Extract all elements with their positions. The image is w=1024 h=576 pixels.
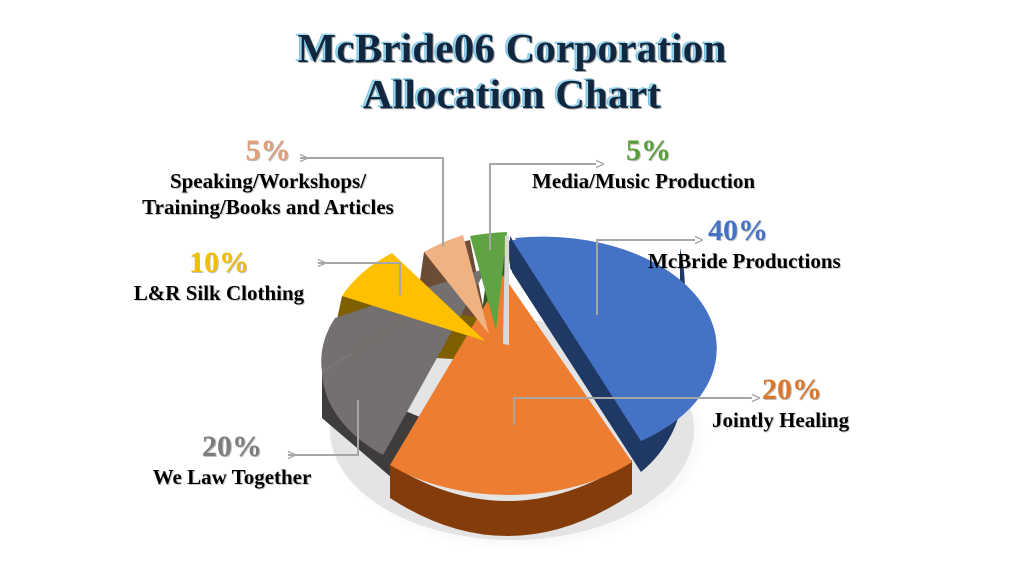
callout-silk: 10% L&R Silk Clothing bbox=[108, 248, 330, 306]
callout-mcbride-percent: 40% bbox=[708, 216, 948, 246]
callout-jointly: 20% Jointly Healing bbox=[712, 375, 952, 433]
callout-silk-percent: 10% bbox=[108, 248, 330, 278]
callout-media-label: Media/Music Production bbox=[532, 168, 832, 194]
callout-speaking-label-line1: Speaking/Workshops/ bbox=[170, 169, 366, 193]
callout-welaw-label: We Law Together bbox=[128, 464, 336, 490]
callout-media: 5% Media/Music Production bbox=[532, 136, 832, 194]
callout-speaking-percent: 5% bbox=[112, 136, 424, 166]
callout-speaking-label: Speaking/Workshops/ Training/Books and A… bbox=[112, 168, 424, 221]
callout-speaking: 5% Speaking/Workshops/ Training/Books an… bbox=[112, 136, 424, 221]
callout-media-percent: 5% bbox=[626, 136, 832, 166]
callout-mcbride: 40% McBride Productions bbox=[648, 216, 948, 274]
slide-canvas: McBride06 Corporation Allocation Chart bbox=[0, 0, 1024, 576]
callout-mcbride-label: McBride Productions bbox=[648, 248, 948, 274]
callout-speaking-label-line2: Training/Books and Articles bbox=[112, 194, 424, 220]
callout-jointly-percent: 20% bbox=[762, 375, 952, 405]
callout-jointly-label: Jointly Healing bbox=[712, 407, 952, 433]
callout-welaw-percent: 20% bbox=[128, 432, 336, 462]
callout-welaw: 20% We Law Together bbox=[128, 432, 336, 490]
callout-silk-label: L&R Silk Clothing bbox=[108, 280, 330, 306]
